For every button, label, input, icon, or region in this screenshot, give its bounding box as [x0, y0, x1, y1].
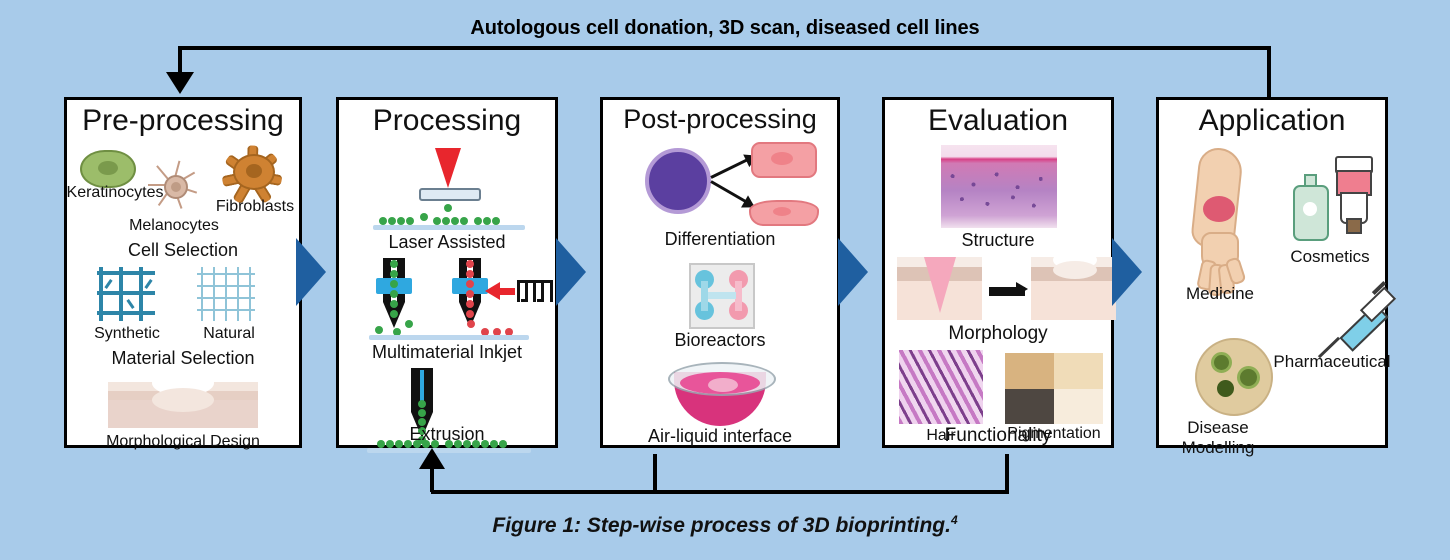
label-structure: Structure: [885, 231, 1111, 250]
arrow-pre-to-processing: [296, 238, 326, 306]
label-multimaterial-inkjet: Multimaterial Inkjet: [339, 343, 555, 362]
extrusion-substrate-icon: [367, 448, 531, 453]
laser-beam-icon: [435, 148, 461, 188]
label-cosmetics: Cosmetics: [1271, 248, 1389, 266]
panel-title-application: Application: [1159, 106, 1385, 136]
natural-polymer-mesh-icon: [195, 265, 261, 325]
arrow-evaluation-to-application: [1112, 238, 1142, 306]
label-disease-modelling: Disease Modelling: [1163, 418, 1273, 457]
fibroblast-cell-icon: [219, 142, 285, 198]
label-material-selection: Material Selection: [67, 349, 299, 368]
figure-caption-text: Figure 1: Step-wise process of 3D biopri…: [492, 514, 951, 537]
square-wave-signal-icon: [517, 280, 553, 302]
differentiation-arrow-up: [710, 155, 754, 179]
wound-before-icon: [897, 257, 982, 320]
pigmentation-swatch-icon: [1005, 353, 1103, 424]
panel-pre-processing[interactable]: Pre-processing Keratinocytes Melanocytes…: [64, 97, 302, 448]
panel-title-processing: Processing: [339, 106, 555, 136]
panel-post-processing[interactable]: Post-processing Differentiation Bioreact…: [600, 97, 840, 448]
label-functionality: Functionality: [885, 426, 1111, 447]
panel-title-evaluation: Evaluation: [885, 106, 1111, 136]
arrow-processing-to-post: [556, 238, 586, 306]
synthetic-polymer-mesh-icon: [95, 265, 161, 325]
bioink-droplet-icon: [444, 204, 452, 212]
figure-caption: Figure 1: Step-wise process of 3D biopri…: [0, 513, 1450, 538]
bottom-feedback-evaluation-drop: [1005, 454, 1009, 492]
arm-graft-icon: [1181, 148, 1267, 298]
signal-arrow-icon: [499, 288, 515, 295]
label-differentiation: Differentiation: [603, 230, 837, 249]
keratinocyte-cell-icon: [80, 150, 136, 188]
label-laser-assisted: Laser Assisted: [339, 233, 555, 252]
bottom-feedback-post-drop: [653, 454, 657, 492]
label-morphology: Morphology: [885, 324, 1111, 345]
label-cell-selection: Cell Selection: [67, 241, 299, 260]
label-synthetic: Synthetic: [77, 325, 177, 342]
label-pharmaceutical: Pharmaceutical: [1271, 353, 1393, 371]
figure-canvas: Autologous cell donation, 3D scan, disea…: [0, 0, 1450, 560]
label-bioreactors: Bioreactors: [603, 331, 837, 350]
bottom-feedback-horizontal-line: [431, 490, 1009, 494]
top-feedback-label: Autologous cell donation, 3D scan, disea…: [0, 17, 1450, 40]
skin-cross-section-icon: [108, 382, 258, 428]
panel-evaluation[interactable]: Evaluation Structure Morphology Hair Pig…: [882, 97, 1114, 448]
culture-dish-icon: [666, 358, 774, 428]
differentiated-cell-flat-nucleus: [773, 207, 791, 216]
label-melanocytes: Melanocytes: [111, 217, 237, 234]
inkjet-substrate-icon: [369, 335, 529, 340]
panel-title-pre-processing: Pre-processing: [67, 106, 299, 136]
top-feedback-arrowhead: [166, 72, 194, 94]
melanocyte-cell-icon: [147, 158, 201, 212]
microfluidic-chip-icon: [689, 263, 755, 329]
laser-substrate-icon: [373, 225, 525, 230]
top-feedback-horizontal-line: [180, 46, 1271, 50]
panel-processing[interactable]: Processing Laser Assisted: [336, 97, 558, 448]
bottom-feedback-arrowhead: [419, 448, 445, 469]
panel-title-post-processing: Post-processing: [603, 106, 837, 133]
top-feedback-right-drop: [1267, 46, 1271, 98]
panel-application[interactable]: Application Medicine Cosmetics: [1156, 97, 1388, 448]
petri-dish-icon: [1195, 338, 1273, 416]
label-morphological-design: Morphological Design: [67, 433, 299, 450]
differentiated-cell-square-nucleus: [771, 152, 793, 165]
hair-histology-icon: [899, 350, 983, 424]
wound-after-icon: [1031, 257, 1116, 320]
healing-progress-arrow: [989, 287, 1025, 296]
stem-cell-icon: [645, 148, 711, 214]
arrow-post-to-evaluation: [838, 238, 868, 306]
figure-caption-superscript: 4: [951, 513, 958, 527]
histology-section-icon: [941, 145, 1057, 228]
label-extrusion: Extrusion: [339, 425, 555, 444]
label-natural: Natural: [179, 325, 279, 342]
label-medicine: Medicine: [1165, 285, 1275, 303]
label-air-liquid-interface: Air-liquid interface: [603, 427, 837, 446]
differentiation-arrow-down: [710, 180, 753, 207]
laser-donor-plate-icon: [419, 188, 481, 201]
label-fibroblasts: Fibroblasts: [207, 198, 303, 215]
